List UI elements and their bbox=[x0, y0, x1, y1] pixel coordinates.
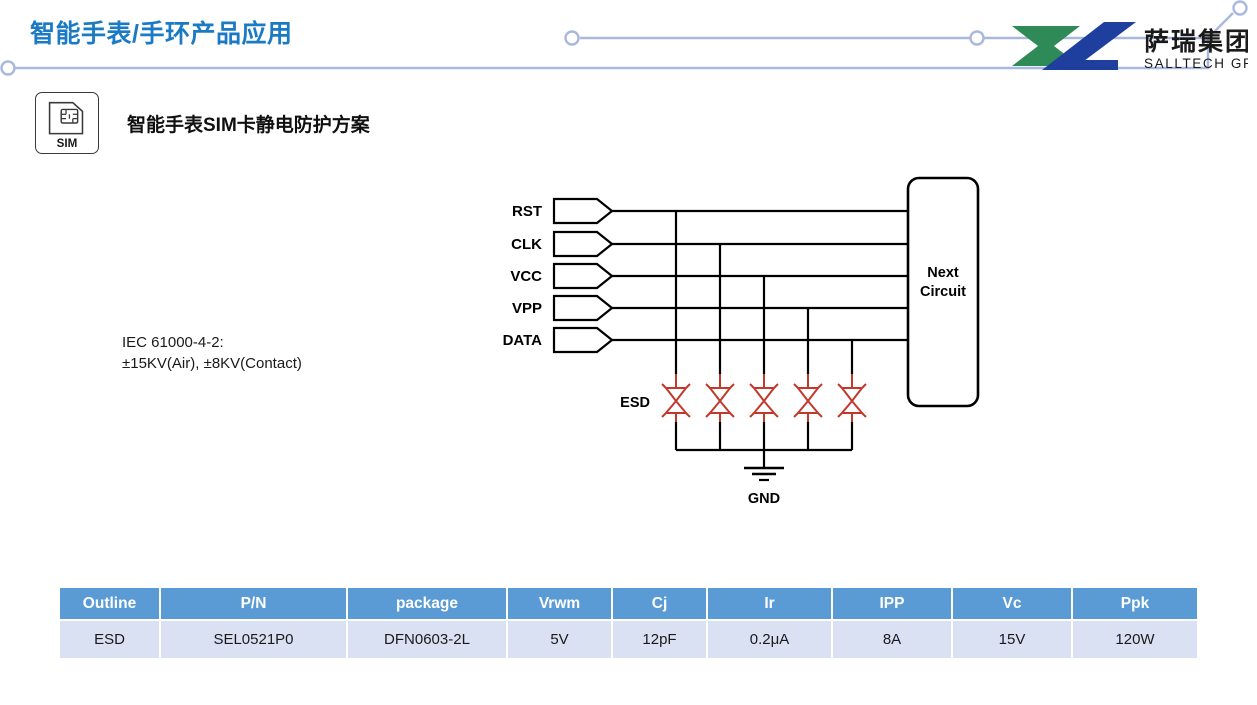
logo-mark-blue-bar bbox=[1054, 60, 1118, 70]
logo-cn-name: 萨瑞集团 bbox=[1144, 27, 1248, 56]
table-cell: DFN0603-2L bbox=[347, 620, 507, 658]
pin-shape-clk bbox=[554, 232, 612, 256]
iec-note-line2: ±15KV(Air), ±8KV(Contact) bbox=[122, 353, 302, 374]
table-cell: 8A bbox=[832, 620, 952, 658]
pin-shape-rst bbox=[554, 199, 612, 223]
table-header-cell: IPP bbox=[832, 588, 952, 620]
signal-label-1: CLK bbox=[511, 236, 542, 253]
decor-node-middle bbox=[566, 32, 579, 45]
next-circuit-label-line2: Circuit bbox=[920, 284, 966, 300]
sim-card-icon: SIM bbox=[35, 92, 99, 154]
sim-icon-label: SIM bbox=[57, 137, 78, 150]
slide-canvas: 智能手表/手环产品应用 萨瑞集团 SALLTECH GROUP SIM bbox=[0, 0, 1257, 705]
table-row: ESD SEL0521P0 DFN0603-2L 5V 12pF 0.2μA 8… bbox=[60, 620, 1197, 658]
esd-diode-2 bbox=[706, 374, 734, 425]
iec-standard-note: IEC 61000-4-2: ±15KV(Air), ±8KV(Contact) bbox=[122, 332, 302, 374]
esd-diode-5 bbox=[838, 374, 866, 425]
signal-labels: RST CLK VCC VPP DATA bbox=[503, 203, 543, 349]
table-header-cell: package bbox=[347, 588, 507, 620]
ground-symbol-icon bbox=[744, 468, 784, 480]
pin-shape-vpp bbox=[554, 296, 612, 320]
specification-table: Outline P/N package Vrwm Cj Ir IPP Vc Pp… bbox=[60, 588, 1197, 658]
esd-label: ESD bbox=[620, 395, 650, 411]
table-header-cell: Vrwm bbox=[507, 588, 612, 620]
table-cell: 15V bbox=[952, 620, 1072, 658]
gnd-label: GND bbox=[748, 491, 780, 507]
iec-note-line1: IEC 61000-4-2: bbox=[122, 332, 302, 353]
signal-label-3: VPP bbox=[512, 300, 542, 317]
signal-pin-shapes bbox=[554, 199, 612, 352]
signal-wires bbox=[612, 211, 910, 340]
table-header-cell: Outline bbox=[60, 588, 160, 620]
ground-rail-wires bbox=[676, 422, 852, 468]
decor-node-left bbox=[2, 62, 15, 75]
table-cell: 5V bbox=[507, 620, 612, 658]
esd-diode-3 bbox=[750, 374, 778, 425]
page-title: 智能手表/手环产品应用 bbox=[30, 14, 292, 50]
next-circuit-label-line1: Next bbox=[927, 265, 959, 281]
decor-node-right bbox=[971, 32, 984, 45]
section-title: 智能手表SIM卡静电防护方案 bbox=[127, 110, 370, 137]
table-cell: 0.2μA bbox=[707, 620, 832, 658]
table-cell: 12pF bbox=[612, 620, 707, 658]
esd-diode-1 bbox=[662, 374, 690, 425]
pin-shape-vcc bbox=[554, 264, 612, 288]
logo-en-name: SALLTECH GROUP bbox=[1144, 56, 1248, 71]
table-header-cell: Ppk bbox=[1072, 588, 1197, 620]
esd-protection-circuit-diagram: RST CLK VCC VPP DATA bbox=[480, 160, 1000, 520]
signal-label-0: RST bbox=[512, 203, 542, 220]
esd-diode-4 bbox=[794, 374, 822, 425]
brand-logo: 萨瑞集团 SALLTECH GROUP bbox=[1008, 16, 1248, 76]
decor-node-corner bbox=[1234, 2, 1247, 15]
esd-diode-symbols bbox=[662, 374, 866, 425]
table-cell: SEL0521P0 bbox=[160, 620, 347, 658]
table-cell: 120W bbox=[1072, 620, 1197, 658]
signal-label-2: VCC bbox=[510, 268, 542, 285]
esd-tap-wires bbox=[676, 211, 852, 374]
table-header-cell: Vc bbox=[952, 588, 1072, 620]
table-header-cell: Cj bbox=[612, 588, 707, 620]
table-header-cell: Ir bbox=[707, 588, 832, 620]
signal-label-4: DATA bbox=[503, 332, 543, 349]
table-header-row: Outline P/N package Vrwm Cj Ir IPP Vc Pp… bbox=[60, 588, 1197, 620]
table-cell: ESD bbox=[60, 620, 160, 658]
pin-shape-data bbox=[554, 328, 612, 352]
table-header-cell: P/N bbox=[160, 588, 347, 620]
sim-chip-contacts-icon bbox=[61, 109, 77, 123]
